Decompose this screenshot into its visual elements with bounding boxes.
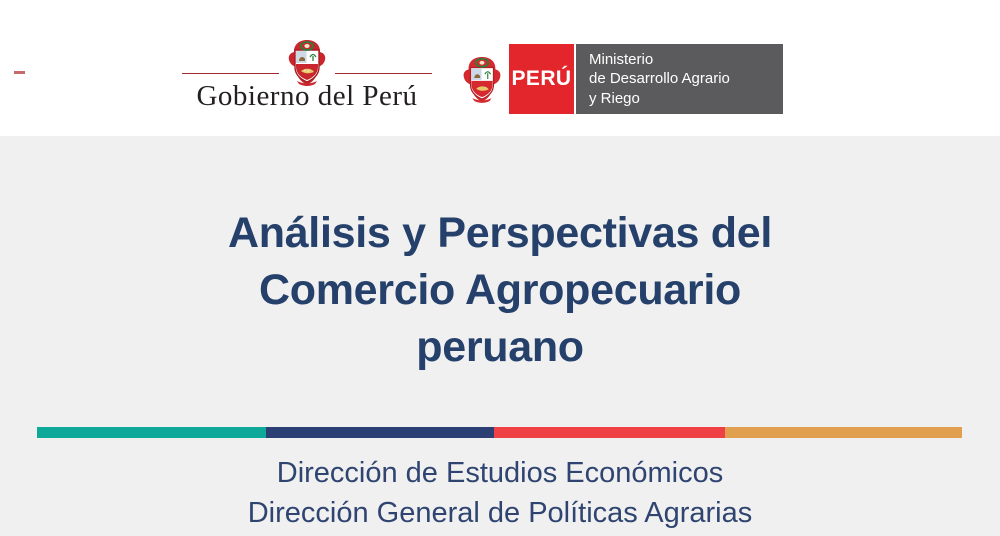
gobierno-del-peru-logo: Gobierno del Perú	[182, 36, 432, 118]
footer-line-2: Dirección General de Políticas Agrarias	[0, 493, 1000, 533]
gobierno-rule-right	[335, 73, 432, 74]
gobierno-logo-text: Gobierno del Perú	[182, 80, 432, 113]
color-bar-segment-red	[494, 427, 725, 438]
peru-coat-of-arms-icon	[455, 44, 509, 114]
footer-line-1: Dirección de Estudios Económicos	[0, 453, 1000, 493]
slide-title-line-3: peruano	[0, 319, 1000, 376]
ministry-name-line-3: y Riego	[589, 89, 783, 108]
gobierno-rule-left	[182, 73, 279, 74]
color-divider-bar	[37, 427, 962, 438]
ministry-name-line-1: Ministerio	[589, 50, 783, 69]
slide-title-line-1: Análisis y Perspectivas del	[0, 205, 1000, 262]
color-bar-segment-teal	[37, 427, 266, 438]
stray-mark	[14, 71, 25, 74]
slide-footer: Dirección de Estudios Económicos Direcci…	[0, 453, 1000, 533]
color-bar-segment-orange	[725, 427, 962, 438]
peru-label-block: PERÚ	[509, 44, 574, 114]
slide-title: Análisis y Perspectivas del Comercio Agr…	[0, 205, 1000, 377]
slide-title-line-2: Comercio Agropecuario	[0, 262, 1000, 319]
ministry-name-block: Ministerio de Desarrollo Agrario y Riego	[576, 44, 783, 114]
ministerio-desarrollo-agrario-logo: PERÚ Ministerio de Desarrollo Agrario y …	[455, 44, 783, 114]
ministry-name-line-2: de Desarrollo Agrario	[589, 69, 783, 88]
color-bar-segment-navy	[266, 427, 494, 438]
presentation-slide: Gobierno del Perú PERÚ Ministerio de	[0, 0, 1000, 536]
